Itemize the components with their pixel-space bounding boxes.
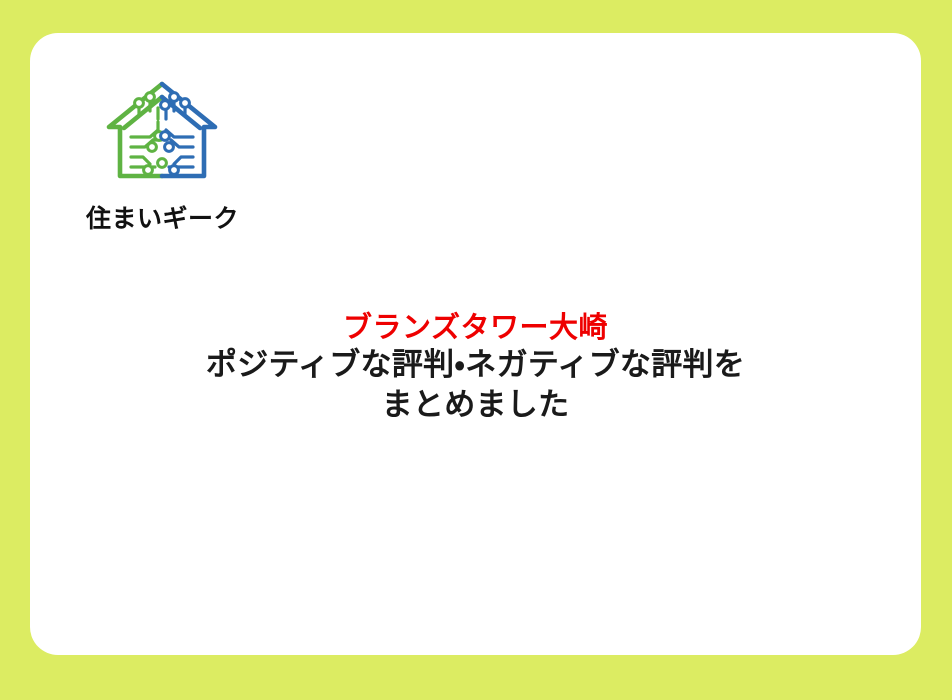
content-card: 住まいギーク ブランズタワー大崎 ポジティブな評判・ネガティブな評判を まとめま… xyxy=(30,33,921,655)
house-circuit-logo-icon xyxy=(103,75,221,187)
headline-block: ブランズタワー大崎 ポジティブな評判・ネガティブな評判を まとめました xyxy=(30,309,921,425)
headline-title: ブランズタワー大崎 xyxy=(30,309,921,346)
headline-subtitle-line-2: まとめました xyxy=(30,386,921,426)
headline-subtitle-line-1: ポジティブな評判・ネガティブな評判を xyxy=(30,346,921,386)
brand-name: 住まいギーク xyxy=(75,199,305,235)
slide-root: 住まいギーク ブランズタワー大崎 ポジティブな評判・ネガティブな評判を まとめま… xyxy=(0,0,952,700)
brand-block: 住まいギーク xyxy=(75,75,305,235)
